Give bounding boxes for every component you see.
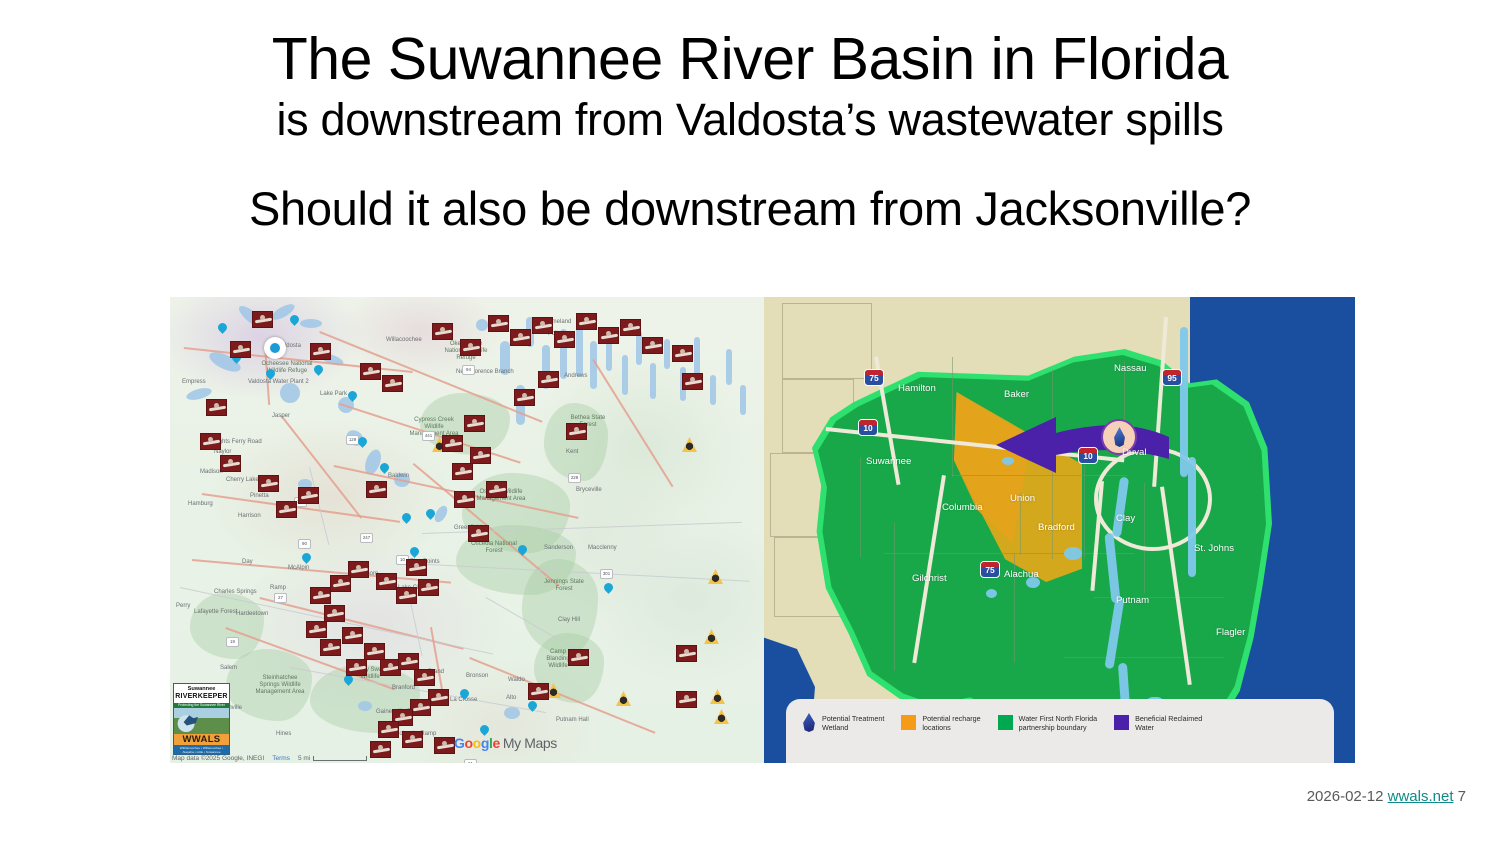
route-shield: 90 — [298, 539, 311, 549]
google-letter-g2: g — [481, 735, 489, 751]
map-place-label: Day — [242, 559, 253, 565]
county-label-baker: Baker — [1004, 389, 1029, 400]
spill-marker[interactable] — [402, 731, 423, 748]
wwals-logo: Suwannee RIVERKEEPER Protecting the Suwa… — [173, 683, 230, 755]
spill-marker[interactable] — [346, 659, 367, 676]
page-title: The Suwannee River Basin in Florida — [0, 26, 1500, 92]
spill-marker[interactable] — [418, 579, 439, 596]
spill-marker[interactable] — [382, 375, 403, 392]
route-shield: 21 — [464, 759, 477, 763]
terms-link[interactable]: Terms — [272, 755, 290, 762]
water-body — [504, 707, 520, 719]
spill-marker[interactable] — [642, 337, 663, 354]
map-place-label: McAlpin — [288, 565, 309, 571]
spill-marker[interactable] — [364, 643, 385, 660]
google-letter-o2: o — [473, 735, 481, 751]
route-shield: 27 — [274, 593, 287, 603]
map-data-attribution: Map data ©2025 Google, INEGI — [172, 755, 264, 762]
water-body — [650, 363, 656, 399]
map-place-label: Lake Park — [320, 391, 347, 397]
map-place-label: Cherry Lake — [226, 477, 259, 483]
legend-item-partnership-boundary: Water First North Florida partnership bo… — [998, 714, 1097, 732]
map-place-label: Osceola National Forest — [466, 541, 522, 555]
google-letter-g: G — [454, 735, 465, 751]
water-body — [476, 319, 488, 331]
footer-date: 2026-02-12 — [1307, 788, 1384, 805]
water-body — [694, 337, 700, 377]
page-question: Should it also be downstream from Jackso… — [0, 180, 1500, 238]
spill-marker[interactable] — [258, 475, 279, 492]
interstate-shield-95: 95 — [1162, 369, 1182, 386]
spill-marker[interactable] — [598, 327, 619, 344]
spill-marker[interactable] — [434, 737, 455, 754]
water-body — [740, 385, 746, 415]
water-body — [358, 701, 372, 711]
spill-marker[interactable] — [320, 639, 341, 656]
map-place-label: Kent — [566, 449, 578, 455]
legend-label: Water First North Florida partnership bo… — [1019, 714, 1097, 732]
route-shield: 228 — [568, 473, 581, 483]
slide-footer: 2026-02-12 wwals.net 7 — [1307, 788, 1466, 805]
spill-marker[interactable] — [378, 721, 399, 738]
spill-marker[interactable] — [568, 649, 589, 666]
county-label-putnam: Putnam — [1116, 595, 1149, 606]
spill-marker[interactable] — [414, 669, 435, 686]
my-maps-label: My Maps — [503, 735, 557, 751]
google-my-maps-logo: GoogleMy Maps — [454, 735, 557, 751]
spill-marker[interactable] — [486, 481, 507, 498]
map-place-label: Salem — [220, 665, 237, 671]
interstate-shield-10: 10 — [858, 419, 878, 436]
spill-marker[interactable] — [366, 481, 387, 498]
map-place-label: Perry — [176, 603, 190, 609]
spill-marker[interactable] — [342, 627, 363, 644]
spill-marker[interactable] — [468, 525, 489, 542]
spill-marker[interactable] — [464, 415, 485, 432]
legend-item-potential-recharge-locations: Potential recharge locations — [901, 714, 980, 732]
county-label-duval: Duval — [1122, 447, 1147, 458]
county-label-bradford: Bradford — [1038, 522, 1075, 533]
map-place-label: Willacoochee — [386, 337, 422, 343]
spill-marker[interactable] — [460, 339, 481, 356]
spill-marker[interactable] — [510, 329, 531, 346]
spill-marker[interactable] — [370, 741, 391, 758]
map-place-label: Hines — [276, 731, 291, 737]
map-place-label: Sanderson — [544, 545, 573, 551]
spill-marker[interactable] — [432, 323, 453, 340]
lake — [1064, 547, 1082, 560]
current-location-dot — [270, 343, 280, 353]
map-place-label: Branford — [392, 685, 415, 691]
route-shield: 301 — [600, 569, 613, 579]
water-body — [726, 349, 732, 385]
maps-row: Valdosta Ocheesee National Wildlife Refu… — [170, 297, 1355, 763]
map-place-label: Ocheesee National Wildlife Refuge — [252, 361, 322, 375]
spill-marker[interactable] — [324, 605, 345, 622]
wwals-logo-line2: RIVERKEEPER — [174, 693, 229, 701]
spill-marker[interactable] — [470, 447, 491, 464]
wwals-logo-name: WWALS — [174, 734, 229, 745]
map-place-label: Valdosta Water Plant 2 — [248, 379, 309, 385]
spill-marker[interactable] — [452, 463, 473, 480]
spill-marker[interactable] — [532, 317, 553, 334]
wwals-logo-header: Suwannee RIVERKEEPER — [174, 684, 229, 703]
water-body — [300, 319, 322, 328]
map-place-label: Harrison — [238, 513, 261, 519]
interstate-shield-10-east: 10 — [1078, 447, 1098, 464]
county-label-union: Union — [1010, 493, 1035, 504]
spill-marker[interactable] — [360, 363, 381, 380]
water-body — [622, 355, 628, 395]
spill-marker[interactable] — [554, 331, 575, 348]
spill-marker[interactable] — [220, 455, 241, 472]
county-label-hamilton: Hamilton — [898, 383, 936, 394]
map-place-label: Lafayette Forest — [194, 609, 237, 615]
green-swatch-icon — [998, 715, 1013, 730]
spill-marker[interactable] — [310, 587, 331, 604]
map-place-label: Andrews — [564, 373, 587, 379]
spill-marker[interactable] — [252, 311, 273, 328]
spill-marker[interactable] — [398, 653, 419, 670]
spill-marker[interactable] — [376, 573, 397, 590]
map-place-label: Pinetta — [250, 493, 269, 499]
map-place-label: Hardeetown — [236, 611, 268, 617]
map-place-label: Jennings State Forest — [544, 579, 584, 593]
map-legend: Potential Treatment Wetland Potential re… — [786, 699, 1334, 763]
water-body — [664, 339, 670, 369]
spill-marker[interactable] — [406, 559, 427, 576]
map-place-label: Alto — [506, 695, 516, 701]
orange-swatch-icon — [901, 715, 916, 730]
spill-marker[interactable] — [410, 699, 431, 716]
spill-marker[interactable] — [442, 435, 463, 452]
spill-marker[interactable] — [566, 423, 587, 440]
wwals-logo-art — [174, 708, 229, 734]
page-number: 7 — [1458, 788, 1466, 805]
route-shield: 94 — [462, 365, 475, 375]
purple-swatch-icon — [1114, 715, 1129, 730]
legend-item-potential-treatment-wetland: Potential Treatment Wetland — [802, 713, 884, 732]
map-place-label: Bronson — [466, 673, 488, 679]
map-place-label: Empress — [182, 379, 206, 385]
map-scale-label: 5 mi — [298, 755, 310, 762]
spill-marker[interactable] — [428, 689, 449, 706]
spill-marker[interactable] — [200, 433, 221, 450]
county-label-st-johns: St. Johns — [1194, 543, 1234, 554]
county-label-alachua: Alachua — [1004, 569, 1039, 580]
map-attribution-bar: Map data ©2025 Google, INEGI Terms 5 mi — [172, 755, 367, 762]
route-shield: 441 — [422, 431, 435, 441]
wwals-net-link[interactable]: wwals.net — [1388, 788, 1454, 805]
interstate-shield-75-south: 75 — [980, 561, 1000, 578]
legend-label: Potential Treatment Wetland — [822, 714, 884, 732]
google-letter-o1: o — [465, 735, 473, 751]
spill-marker[interactable] — [206, 399, 227, 416]
route-shield: 19 — [226, 637, 239, 647]
map-place-label: Steinhatchee Springs Wildlife Management… — [254, 675, 306, 696]
county-border — [1084, 465, 1085, 559]
legend-item-beneficial-reclaimed-water: Beneficial Reclaimed Water — [1114, 714, 1202, 732]
map-place-label: Baldwin — [388, 473, 409, 479]
legend-label: Potential recharge locations — [922, 714, 980, 732]
map-place-label: Macclenny — [588, 545, 617, 551]
spill-marker[interactable] — [528, 683, 549, 700]
county-label-columbia: Columbia — [942, 502, 983, 513]
spill-marker[interactable] — [682, 373, 703, 390]
county-label-nassau: Nassau — [1114, 363, 1147, 374]
county-label-suwannee: Suwannee — [866, 456, 911, 467]
water-first-north-florida-panel[interactable]: Hamilton Baker Nassau Suwannee Columbia … — [764, 297, 1355, 763]
county-label-clay: Clay — [1116, 513, 1135, 524]
county-border — [894, 523, 895, 671]
water-drop-icon — [802, 713, 816, 732]
non-partner-county — [782, 303, 872, 379]
spill-marker[interactable] — [310, 343, 331, 360]
route-shield: 247 — [360, 533, 373, 543]
spill-marker[interactable] — [488, 315, 509, 332]
map-place-label: Ramp — [270, 585, 286, 591]
county-border — [1064, 657, 1224, 658]
map-place-label: Jasper — [272, 413, 290, 419]
map-place-label: Hamburg — [188, 501, 213, 507]
coastal-waterway — [1180, 327, 1188, 477]
legend-label: Beneficial Reclaimed Water — [1135, 714, 1202, 732]
wwals-logo-subtitle: Withlacoochee • Willacoochee • Alapaha •… — [174, 745, 229, 755]
map-place-label: Bryceville — [576, 487, 602, 493]
spill-marker[interactable] — [620, 319, 641, 336]
coastal-waterway — [1188, 457, 1196, 577]
wwals-logo-line1: Suwannee — [188, 686, 216, 692]
county-border — [952, 357, 953, 477]
spill-marker[interactable] — [676, 645, 697, 662]
map-place-label: Waldo — [508, 677, 525, 683]
map-place-label: Clay Hill — [558, 617, 580, 623]
water-body — [710, 375, 716, 405]
spill-marker[interactable] — [276, 501, 297, 518]
county-label-gilchrist: Gilchrist — [912, 573, 947, 584]
spill-marker[interactable] — [538, 371, 559, 388]
county-label-flagler: Flagler — [1216, 627, 1245, 638]
spill-marker[interactable] — [230, 341, 251, 358]
google-letter-e: e — [492, 735, 499, 751]
spill-marker[interactable] — [348, 561, 369, 578]
lake — [986, 589, 997, 598]
spill-marker[interactable] — [514, 389, 535, 406]
map-place-label: Charles Springs — [214, 589, 257, 595]
interstate-shield-75: 75 — [864, 369, 884, 386]
page-subtitle: is downstream from Valdosta’s wastewater… — [0, 92, 1500, 148]
scale-bar-graphic — [313, 756, 367, 761]
spill-marker[interactable] — [676, 691, 697, 708]
legend-items: Potential Treatment Wetland Potential re… — [786, 699, 1334, 732]
map-place-label: Putnam Hall — [556, 717, 589, 723]
spill-marker[interactable] — [396, 587, 417, 604]
spill-marker[interactable] — [306, 621, 327, 638]
spill-marker[interactable] — [672, 345, 693, 362]
water-body — [280, 383, 300, 403]
title-block: The Suwannee River Basin in Florida is d… — [0, 26, 1500, 238]
spill-marker[interactable] — [576, 313, 597, 330]
map-scale-bar: 5 mi — [298, 755, 367, 762]
county-border — [860, 457, 861, 557]
spill-marker[interactable] — [298, 487, 319, 504]
spill-marker[interactable] — [330, 575, 351, 592]
google-my-maps-panel[interactable]: Valdosta Ocheesee National Wildlife Refu… — [170, 297, 764, 763]
spill-marker[interactable] — [454, 491, 475, 508]
beneficial-reclaimed-water-arrow — [994, 415, 1169, 475]
